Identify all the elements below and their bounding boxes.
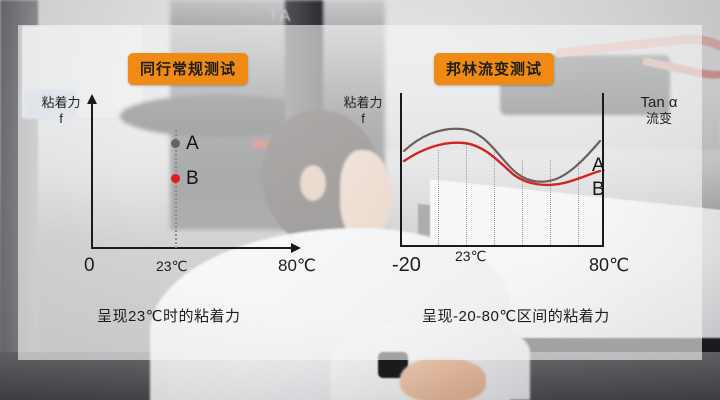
left-point-b-label: B xyxy=(186,169,199,188)
right-y-axis-left-line1: 粘着力 xyxy=(330,95,396,111)
right-y-axis-right-label: Tan α 流变 xyxy=(617,95,701,127)
right-y-axis-left-line2: f xyxy=(330,111,396,127)
left-panel-caption: 呈现23℃时的粘着力 xyxy=(97,305,241,326)
left-point-a-label: A xyxy=(186,134,199,153)
screenshot-root: TA 同行常规测试 粘着力 f A B xyxy=(0,0,720,400)
left-x-tick-80c: 80℃ xyxy=(278,256,316,276)
right-curves-svg xyxy=(400,93,604,247)
left-point-a-marker xyxy=(171,139,180,148)
left-x-tick-23c: 23℃ xyxy=(156,258,187,275)
left-x-tick-0: 0 xyxy=(84,255,95,277)
right-panel-badge: 邦林流变测试 xyxy=(434,53,554,85)
left-y-axis-label-line1: 粘着力 xyxy=(26,95,96,111)
left-y-axis-label: 粘着力 f xyxy=(26,95,96,127)
right-x-tick-80c: 80℃ xyxy=(589,255,629,276)
left-panel-badge: 同行常规测试 xyxy=(128,53,248,85)
right-x-tick-23c: 23℃ xyxy=(455,248,486,265)
right-series-a-label: A xyxy=(592,156,605,175)
left-y-axis-label-line2: f xyxy=(26,111,96,127)
right-panel-caption: 呈现-20-80℃区间的粘着力 xyxy=(422,305,610,326)
left-y-axis-line xyxy=(91,103,93,249)
right-y-axis-left-label: 粘着力 f xyxy=(330,95,396,127)
right-x-tick-minus20: -20 xyxy=(392,254,421,277)
left-x-axis-arrow-icon xyxy=(291,243,301,253)
left-point-b-marker xyxy=(171,174,180,183)
right-curve-a xyxy=(404,129,600,182)
right-curve-b xyxy=(404,143,600,185)
right-y-axis-right-line2: 流变 xyxy=(617,111,701,127)
right-series-b-label: B xyxy=(592,180,605,199)
right-y-axis-right-line1: Tan α xyxy=(617,95,701,111)
left-x-axis-line xyxy=(91,247,291,249)
